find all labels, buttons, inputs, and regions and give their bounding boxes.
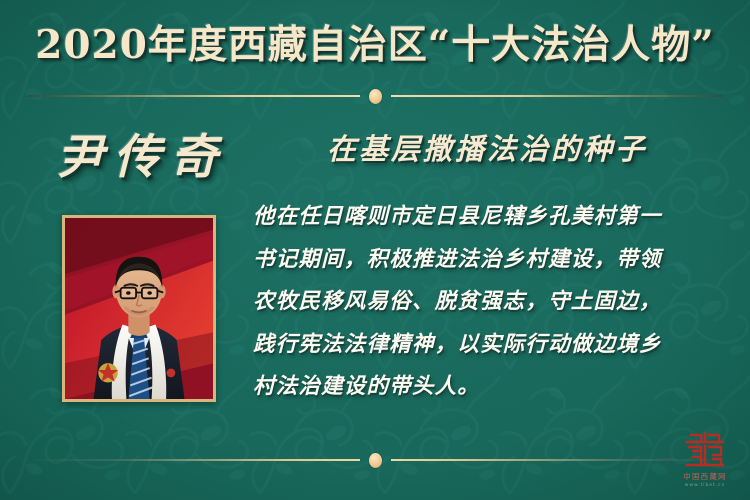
citation-body: 他在任日喀则市定日县尼辖乡孔美村第一 书记期间，积极推进法治乡村建设，带领 农牧… [253, 196, 721, 409]
logo-url: www.tibet.cn [685, 483, 726, 488]
divider-bottom [28, 452, 722, 468]
divider-dot-icon [369, 453, 382, 468]
citation-line: 村法治建设的带头人。 [253, 366, 721, 409]
citation-line: 他在任日喀则市定日县尼辖乡孔美村第一 [253, 196, 721, 239]
portrait-photo-frame [62, 215, 216, 402]
citation-line: 践行宪法法律精神，以实际行动做边境乡 [253, 324, 721, 367]
divider-bar-right [391, 95, 723, 97]
citation-line: 农牧民移风易俗、脱贫强志，守土固边， [253, 281, 721, 324]
person-name: 尹传奇 [34, 118, 250, 187]
poster-header: 2020年度西藏自治区“十大法治人物” [0, 24, 750, 66]
site-logo[interactable]: 中国西藏网 www.tibet.cn [672, 422, 738, 488]
citation-line: 书记期间，积极推进法治乡村建设，带领 [253, 239, 721, 282]
divider-bar-left [28, 95, 360, 97]
divider-bar-left [28, 459, 360, 461]
divider-dot-icon [369, 89, 382, 104]
award-subtitle: 在基层撒播法治的种子 [252, 126, 722, 168]
page-title: 2020年度西藏自治区“十大法治人物” [35, 24, 714, 66]
divider-top [28, 88, 722, 104]
logo-name: 中国西藏网 [683, 471, 727, 482]
seal-logo-icon [683, 429, 727, 469]
award-poster: 2020年度西藏自治区“十大法治人物” 尹传奇 [0, 0, 750, 500]
portrait-photo [65, 218, 213, 399]
